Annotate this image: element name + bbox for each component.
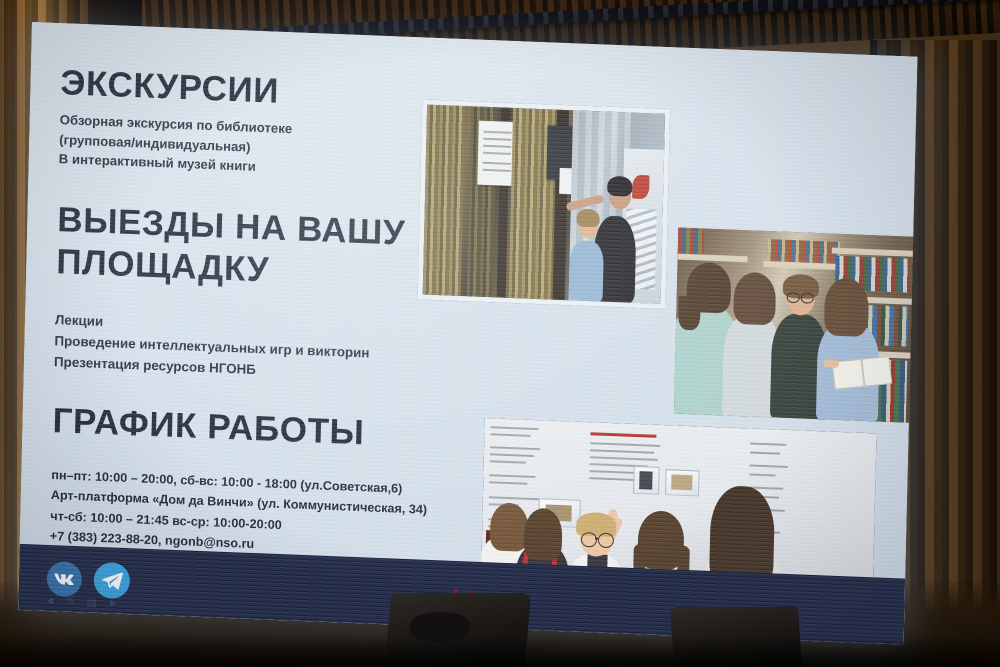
- telegram-icon[interactable]: [93, 562, 130, 599]
- auditorium-scene: ЭКСКУРСИИ Обзорная экскурсия по библиоте…: [0, 0, 1000, 667]
- vk-icon[interactable]: [46, 561, 82, 597]
- photo-library-archive: [418, 99, 671, 309]
- projection-screen: ЭКСКУРСИИ Обзорная экскурсия по библиоте…: [18, 22, 918, 657]
- pen-tool-icon[interactable]: ✎: [66, 597, 75, 608]
- next-slide-icon[interactable]: ►: [108, 598, 119, 609]
- heading-schedule: ГРАФИК РАБОТЫ: [52, 403, 445, 455]
- slide-text-column: ЭКСКУРСИИ Обзорная экскурсия по библиоте…: [50, 65, 453, 562]
- prev-slide-icon[interactable]: ◄: [44, 596, 55, 607]
- slides-overview-icon[interactable]: ▤: [86, 598, 97, 609]
- photo-teens-reading: [674, 228, 914, 423]
- excursion-subtitle: Обзорная экскурсия по библиотеке (группо…: [59, 111, 452, 184]
- stage-monitor-right: [670, 607, 802, 667]
- stage-monitor-left: [385, 593, 531, 667]
- services-list: Лекции Проведение интеллектуальных игр и…: [54, 310, 447, 388]
